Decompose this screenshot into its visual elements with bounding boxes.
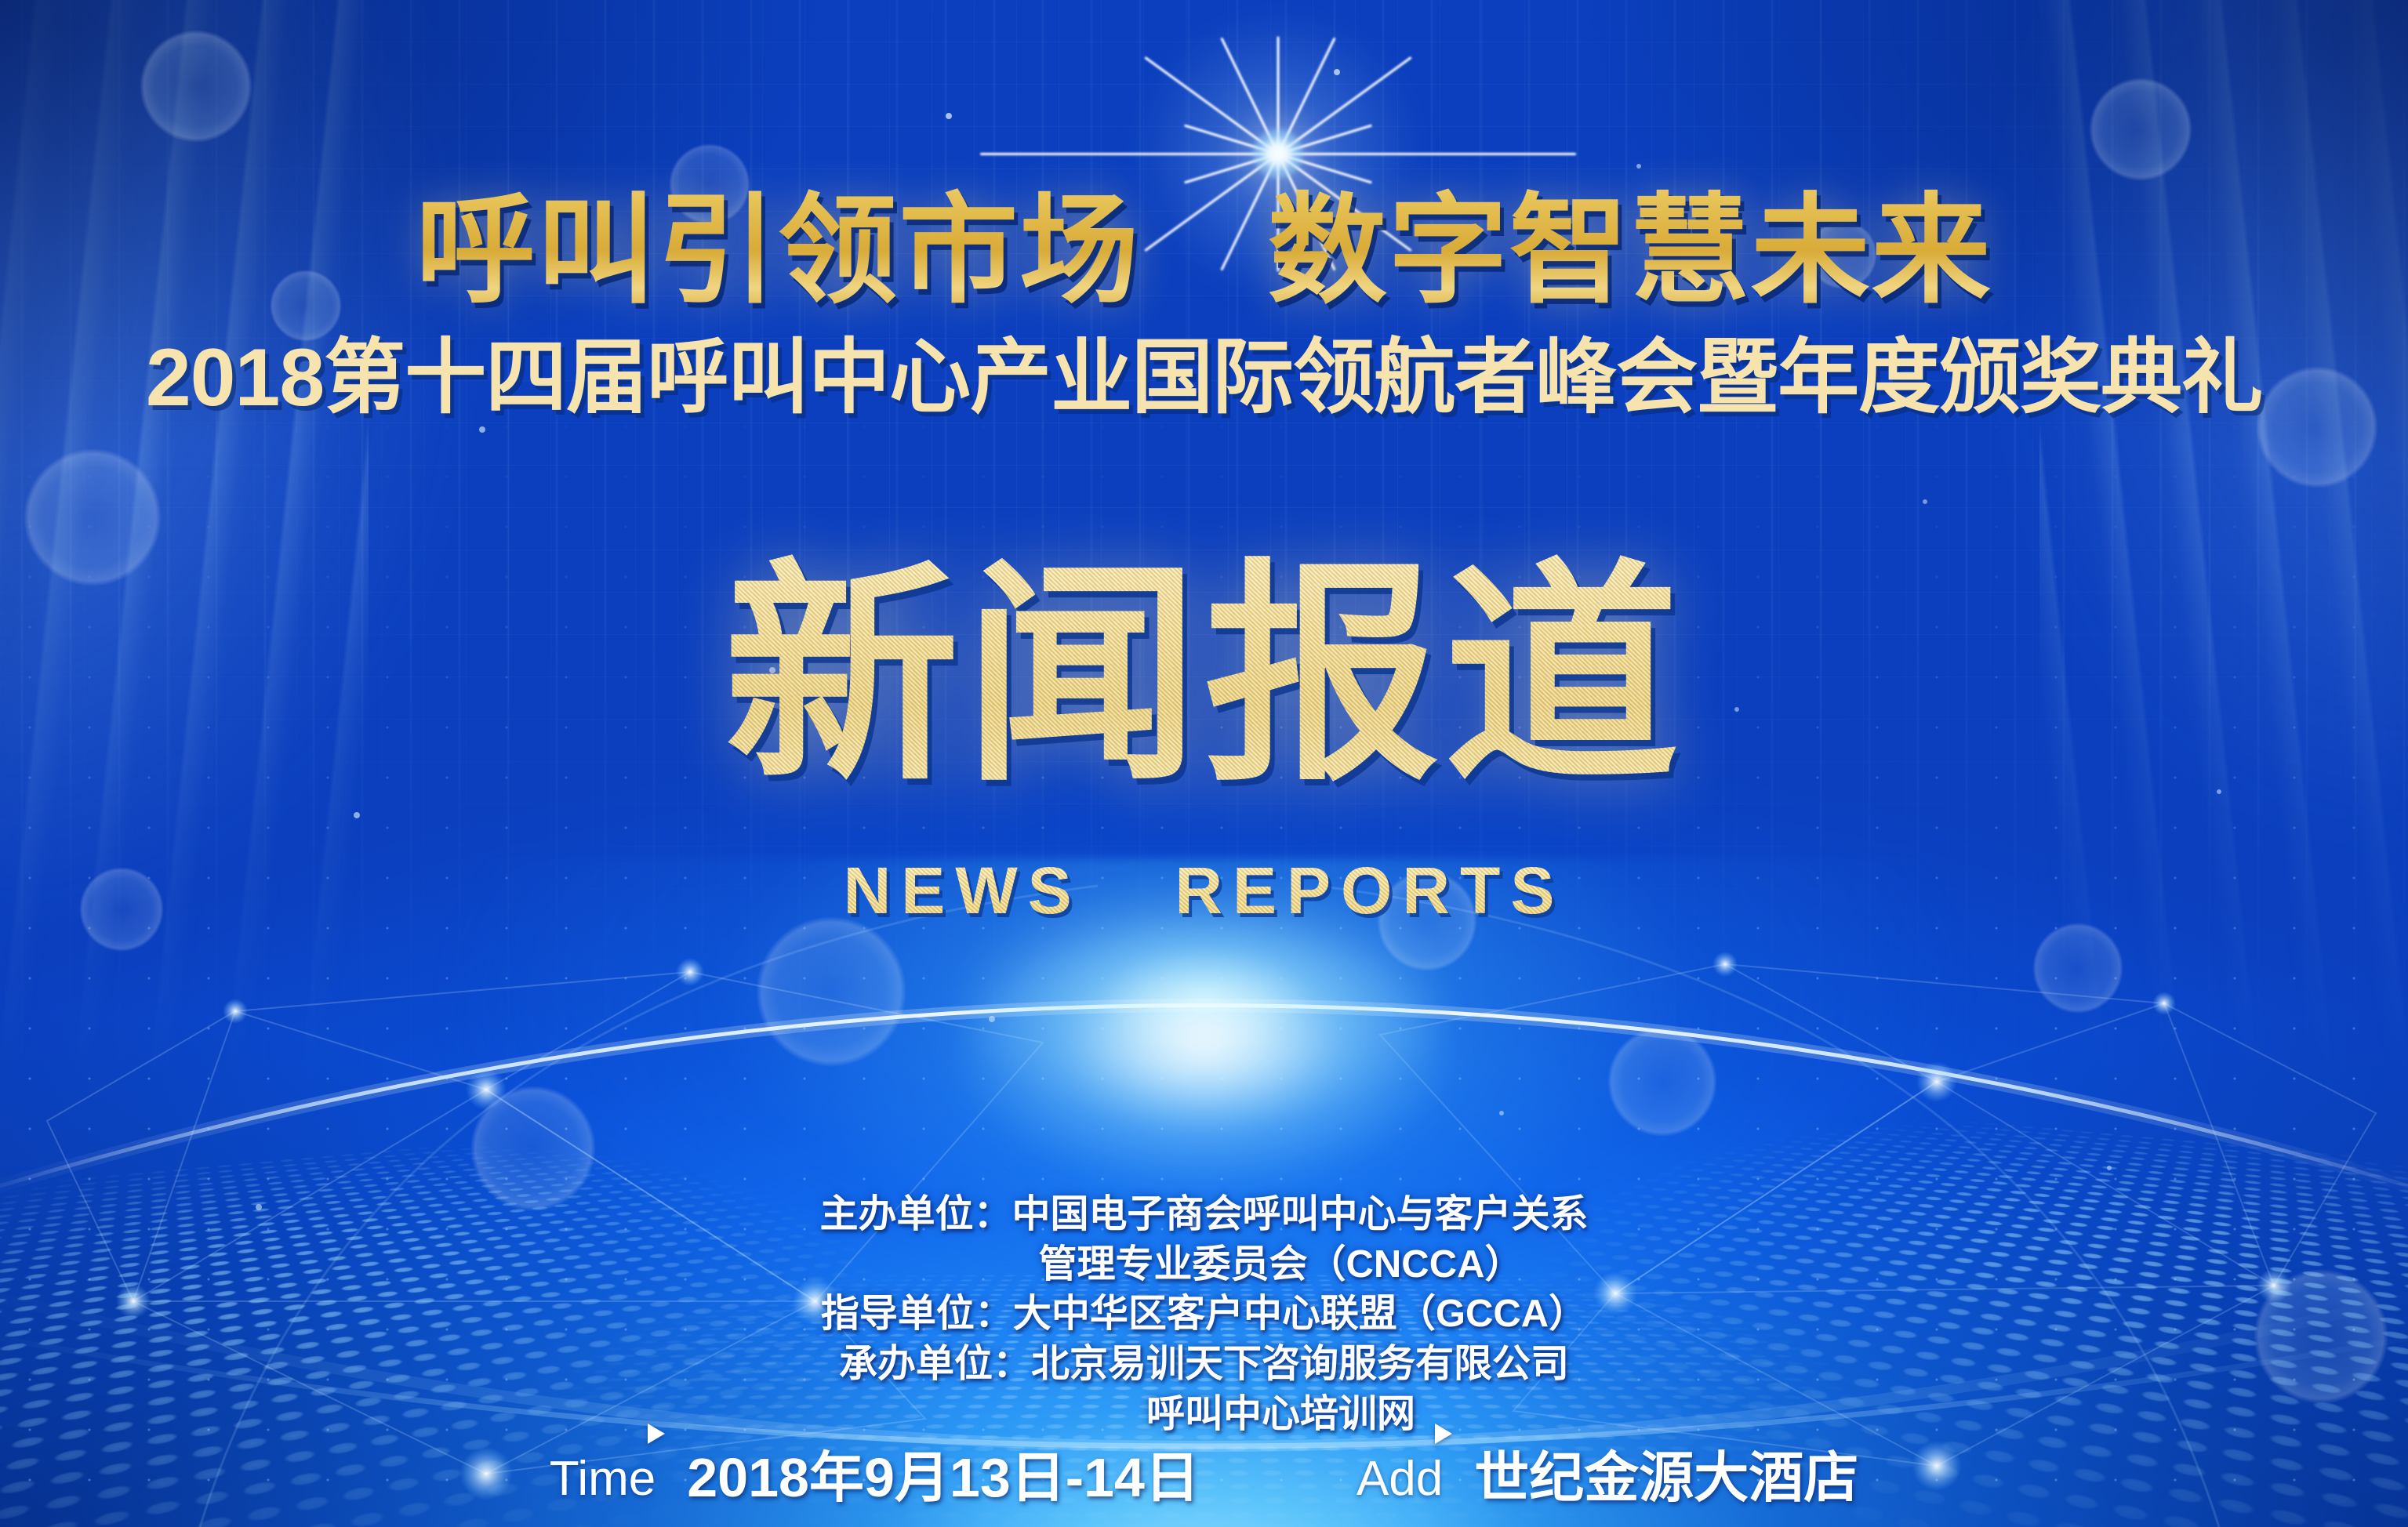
organizer-value: 大中华区客户中心联盟（GCCA） xyxy=(1013,1293,1587,1335)
time-label-wrap: Time xyxy=(550,1441,656,1503)
poster-canvas: 呼叫引领市场 数字智慧未来 2018第十四届呼叫中心产业国际领航者峰会暨年度颁奖… xyxy=(0,0,2408,1527)
time-value: 2018年9月13日-14日 xyxy=(687,1441,1200,1505)
headline-part-2: 数字智慧未来 xyxy=(1268,184,1992,317)
english-subtitle: NEWS REPORTS xyxy=(0,853,2408,929)
page-title: 新闻报道 xyxy=(0,549,2408,803)
time-label: Time xyxy=(550,1452,656,1506)
organizer-row: 指导单位：大中华区客户中心联盟（GCCA） xyxy=(0,1289,2408,1340)
organizer-row: 主办单位：中国电子商会呼叫中心与客户关系 xyxy=(0,1190,2408,1240)
address-value: 世纪金源大酒店 xyxy=(1474,1441,1858,1505)
organizer-row: 呼叫中心培训网 xyxy=(0,1390,2408,1440)
organizer-value: 中国电子商会呼叫中心与客户关系 xyxy=(1012,1193,1589,1235)
organizer-credits: 主办单位：中国电子商会呼叫中心与客户关系管理专业委员会（CNCCA）指导单位：大… xyxy=(0,1190,2408,1439)
event-subheadline: 2018第十四届呼叫中心产业国际领航者峰会暨年度颁奖典礼 xyxy=(0,310,2408,429)
organizer-value: 北京易训天下咨询服务有限公司 xyxy=(1031,1343,1569,1385)
english-subtitle-part-1: NEWS xyxy=(844,854,1082,927)
organizer-label: 指导单位： xyxy=(821,1289,1013,1340)
time-group: Time 2018年9月13日-14日 xyxy=(550,1441,1200,1505)
organizer-value: 管理专业委员会（CNCCA） xyxy=(1039,1243,1524,1286)
address-label: Add xyxy=(1357,1452,1443,1506)
english-subtitle-part-2: REPORTS xyxy=(1175,854,1564,927)
organizer-row: 承办单位：北京易训天下咨询服务有限公司 xyxy=(0,1340,2408,1390)
footer-details: Time 2018年9月13日-14日 Add 世纪金源大酒店 xyxy=(0,1441,2408,1505)
address-group: Add 世纪金源大酒店 xyxy=(1357,1441,1858,1505)
globe-center-glow xyxy=(961,925,1447,1184)
organizer-label: 主办单位： xyxy=(819,1190,1012,1240)
headline-slogan: 呼叫引领市场 数字智慧未来 xyxy=(0,154,2408,326)
organizer-row: 管理专业委员会（CNCCA） xyxy=(0,1240,2408,1290)
play-triangle-icon xyxy=(1435,1424,1452,1444)
organizer-label: 承办单位： xyxy=(839,1340,1031,1390)
organizer-value: 呼叫中心培训网 xyxy=(1146,1393,1415,1435)
play-triangle-icon xyxy=(648,1424,665,1444)
headline-part-1: 呼叫引领市场 xyxy=(416,184,1140,317)
address-label-wrap: Add xyxy=(1357,1441,1443,1503)
